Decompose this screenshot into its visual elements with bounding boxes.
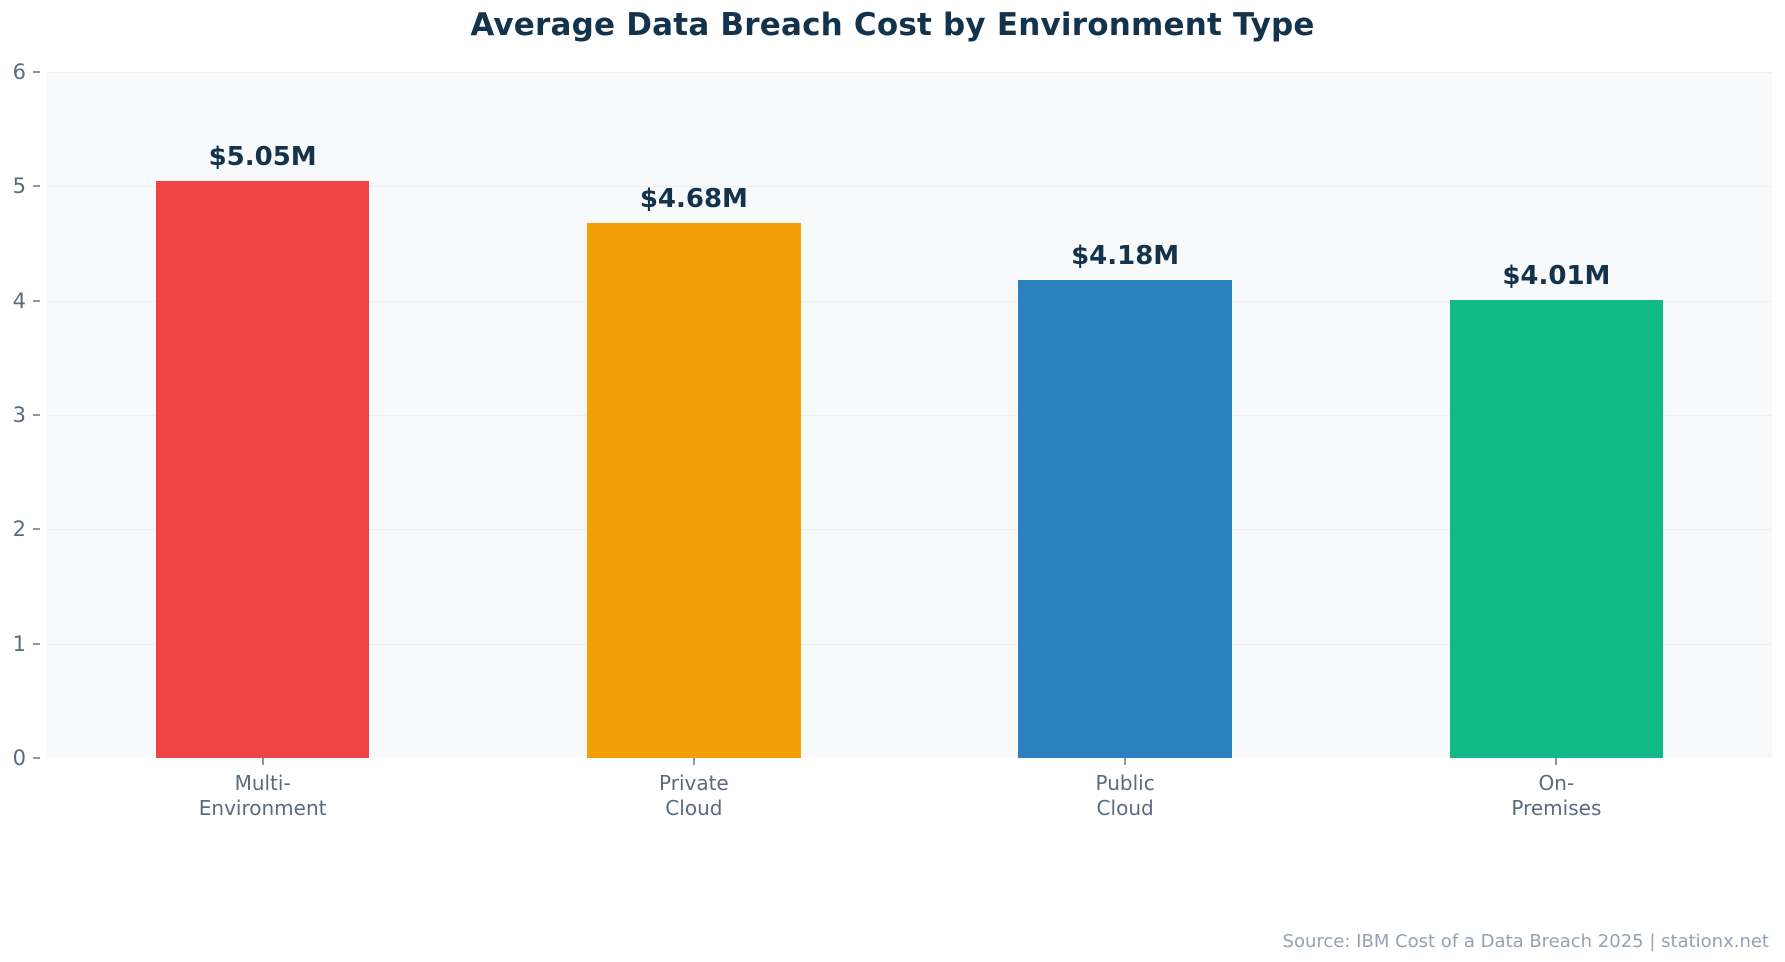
x-tick-label-line: Environment xyxy=(199,796,327,821)
bar-value-label: $4.01M xyxy=(1502,261,1610,291)
x-tick-mark xyxy=(1124,758,1126,765)
y-tick-mark xyxy=(33,528,40,530)
bar[interactable] xyxy=(156,181,369,758)
bar[interactable] xyxy=(1018,280,1231,758)
x-tick-label-line: Cloud xyxy=(1096,796,1155,821)
y-tick-mark xyxy=(33,643,40,645)
y-tick-mark xyxy=(33,71,40,73)
x-tick-label: PrivateCloud xyxy=(659,771,729,821)
bar-value-label: $5.05M xyxy=(209,142,317,172)
x-tick-label: Multi-Environment xyxy=(199,771,327,821)
y-tick-label: 3 xyxy=(13,403,26,427)
y-tick-mark xyxy=(33,185,40,187)
y-tick-label: 4 xyxy=(13,289,26,313)
bar-value-label: $4.18M xyxy=(1071,241,1179,271)
bar[interactable] xyxy=(587,223,800,758)
x-tick-label: On-Premises xyxy=(1511,771,1601,821)
x-tick-label-line: Cloud xyxy=(659,796,729,821)
bar-chart-figure: Average Data Breach Cost by Environment … xyxy=(0,0,1785,962)
y-axis: 0123456 xyxy=(0,72,40,758)
y-tick-mark xyxy=(33,300,40,302)
x-tick-label-line: Premises xyxy=(1511,796,1601,821)
bar[interactable] xyxy=(1450,300,1663,758)
gridline xyxy=(47,72,1772,73)
y-tick-label: 5 xyxy=(13,174,26,198)
y-tick-label: 6 xyxy=(13,60,26,84)
x-tick-mark xyxy=(693,758,695,765)
bar-value-label: $4.68M xyxy=(640,184,748,214)
plot-area: $5.05M$4.68M$4.18M$4.01M xyxy=(47,72,1772,758)
x-tick-label-line: On- xyxy=(1511,771,1601,796)
y-tick-mark xyxy=(33,757,40,759)
y-tick-mark xyxy=(33,414,40,416)
x-tick-mark xyxy=(1555,758,1557,765)
x-tick-label: PublicCloud xyxy=(1096,771,1155,821)
source-annotation: Source: IBM Cost of a Data Breach 2025 |… xyxy=(1283,931,1769,952)
x-tick-label-line: Public xyxy=(1096,771,1155,796)
x-tick-mark xyxy=(262,758,264,765)
x-tick-label-line: Private xyxy=(659,771,729,796)
x-tick-label-line: Multi- xyxy=(199,771,327,796)
chart-title: Average Data Breach Cost by Environment … xyxy=(0,7,1785,43)
y-tick-label: 2 xyxy=(13,517,26,541)
x-axis: Multi-EnvironmentPrivateCloudPublicCloud… xyxy=(47,758,1772,868)
y-tick-label: 0 xyxy=(13,746,26,770)
y-tick-label: 1 xyxy=(13,632,26,656)
